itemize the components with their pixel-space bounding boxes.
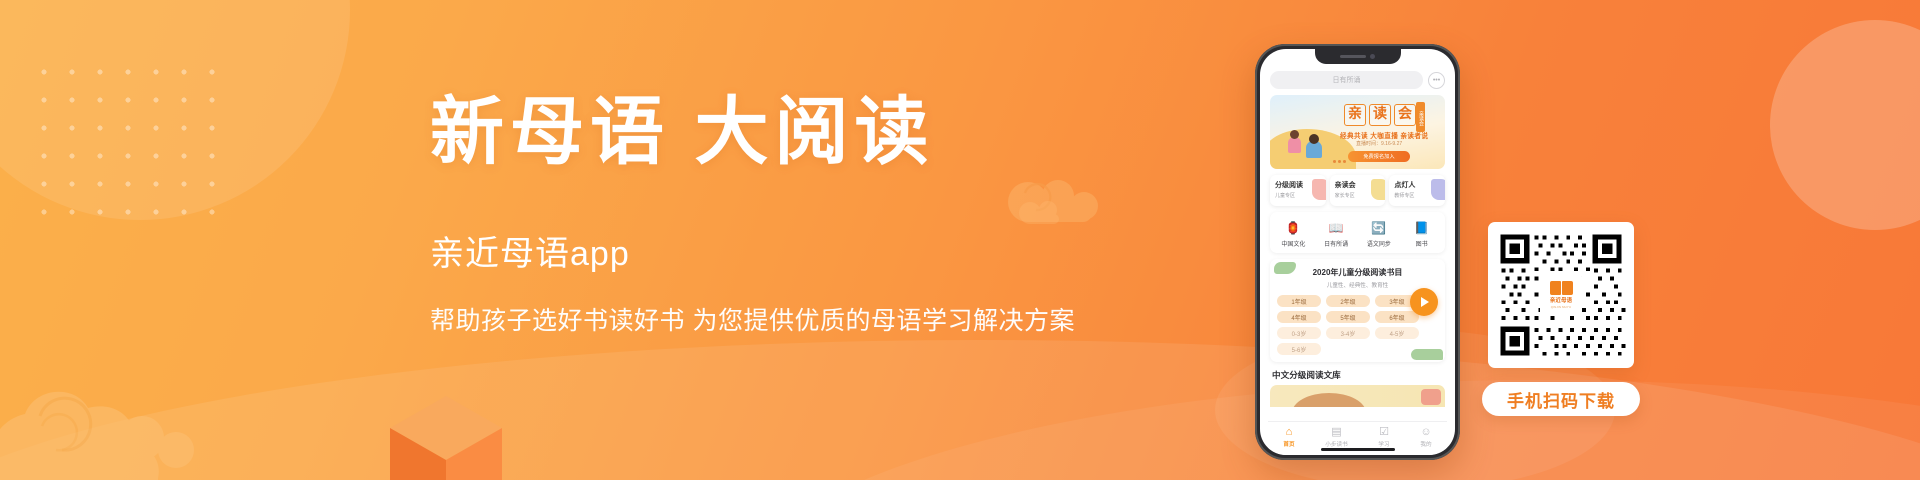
hero-char-2: 读 [1369,104,1391,126]
download-button[interactable]: 手机扫码下载 [1482,382,1640,416]
age-chip[interactable]: 0-3岁 [1277,327,1321,339]
tab-home[interactable]: ⌂ 首页 [1283,426,1294,448]
quick-link-label: 语文同步 [1367,239,1391,248]
category-card-teacher[interactable]: 点灯人 教师专区 [1389,175,1445,206]
message-icon[interactable]: ••• [1428,72,1445,89]
tagline: 帮助孩子选好书读好书 为您提供优质的母语学习解决方案 [430,301,1190,337]
hero-char-1: 亲 [1344,104,1366,126]
cloud-icon [0,342,220,480]
qr-code-panel: 亲近母语 QINJIN MUYU [1488,222,1634,368]
grade-chip[interactable]: 5年级 [1326,311,1370,323]
app-name-subtitle: 亲近母语app [430,226,1190,275]
quick-link-daily-recite[interactable]: 📖 日有所诵 [1316,219,1356,248]
home-indicator [1321,448,1395,451]
grade-chip[interactable]: 4年级 [1277,311,1321,323]
quick-link-label: 日有所诵 [1324,239,1348,248]
decor-circle-top-right [1770,20,1920,230]
search-input[interactable]: 日有所诵 [1270,71,1423,89]
age-chip[interactable]: 4-5岁 [1375,327,1419,339]
sync-lesson-icon: 🔄 [1370,219,1387,236]
hero-ribbon: 亲读会 [1416,102,1425,132]
study-icon: ☑ [1379,426,1389,438]
quick-link-books[interactable]: 📘 图书 [1402,219,1442,248]
tab-label: 学习 [1378,440,1389,448]
tab-reading[interactable]: ▤ 小步读书 [1325,426,1347,448]
grade-chip[interactable]: 1年级 [1277,295,1321,307]
page-title: 新母语 大阅读 [430,96,1190,170]
hero-char-3: 会 [1394,104,1416,126]
tab-label: 我的 [1420,440,1431,448]
grade-chip[interactable]: 6年级 [1375,311,1419,323]
category-cards: 分级阅读 儿童专区 亲读会 家长专区 点灯人 教师专区 [1270,175,1445,206]
hero-title: 亲 读 会 [1344,104,1416,126]
search-row: 日有所诵 ••• [1268,68,1447,95]
brand-name: 亲近母语 [1550,296,1572,304]
tab-label: 首页 [1283,440,1294,448]
hero-banner[interactable]: 亲 读 会 亲读会 经典共读 大咖直播 亲读者说 直播时间：9.16-9.27 … [1270,95,1445,169]
quick-links-row: 🏮 中国文化 📖 日有所诵 🔄 语文同步 📘 图书 [1270,212,1445,253]
quick-link-chinese-culture[interactable]: 🏮 中国文化 [1273,219,1313,248]
brand-pinyin: QINJIN MUYU [1551,305,1571,309]
quick-link-sync-lesson[interactable]: 🔄 语文同步 [1359,219,1399,248]
hero-signup-button[interactable]: 免费报名加入 [1348,151,1410,162]
tab-profile[interactable]: ☺ 我的 [1420,426,1431,448]
hero-carousel-dots[interactable] [1333,160,1346,163]
category-card-parent-club[interactable]: 亲读会 家长专区 [1330,175,1386,206]
decor-cube [388,394,504,480]
age-chip[interactable]: 3-4岁 [1326,327,1370,339]
phone-notch [1315,49,1401,64]
quick-link-label: 图书 [1416,239,1428,248]
tab-study[interactable]: ☑ 学习 [1378,426,1389,448]
brand-logo: 亲近母语 QINJIN MUYU [1540,274,1582,316]
grade-chip[interactable]: 2年级 [1326,295,1370,307]
age-chip[interactable]: 5-6岁 [1277,343,1321,355]
tab-label: 小步读书 [1325,440,1347,448]
reading-icon: ▤ [1331,426,1341,438]
qr-code-icon: 亲近母语 QINJIN MUYU [1495,229,1627,361]
home-icon: ⌂ [1286,426,1293,438]
library-title: 中文分级阅读文库 [1272,369,1447,381]
library-card[interactable] [1270,385,1445,407]
phone-mockup: 日有所诵 ••• 亲 读 会 亲读会 经典共读 大咖直播 亲读者说 直播时间：9… [1255,44,1460,460]
booklist-title: 2020年儿童分级阅读书目 [1277,267,1438,278]
profile-icon: ☺ [1420,426,1431,438]
video-play-icon[interactable] [1410,288,1438,316]
quick-link-label: 中国文化 [1281,239,1305,248]
books-icon: 📘 [1413,219,1430,236]
daily-recite-icon: 📖 [1328,219,1345,236]
hero-date: 直播时间：9.16-9.27 [1356,140,1402,147]
booklist-subtitle: 儿童性、经典性、教育性 [1277,281,1438,289]
category-card-graded-reading[interactable]: 分级阅读 儿童专区 [1270,175,1326,206]
decor-circle-top-left [0,0,350,220]
booklist-module: 2020年儿童分级阅读书目 儿童性、经典性、教育性 1年级 2年级 3年级 4年… [1270,259,1445,362]
hero-subtitle: 经典共读 大咖直播 亲读者说 [1340,130,1428,140]
copy-block: 新母语 大阅读 亲近母语app 帮助孩子选好书读好书 为您提供优质的母语学习解决… [430,96,1190,337]
app-screen: 日有所诵 ••• 亲 读 会 亲读会 经典共读 大咖直播 亲读者说 直播时间：9… [1260,49,1455,455]
decor-dot-grid [30,58,228,230]
promo-banner: 新母语 大阅读 亲近母语app 帮助孩子选好书读好书 为您提供优质的母语学习解决… [0,0,1920,480]
chinese-culture-icon: 🏮 [1285,219,1302,236]
